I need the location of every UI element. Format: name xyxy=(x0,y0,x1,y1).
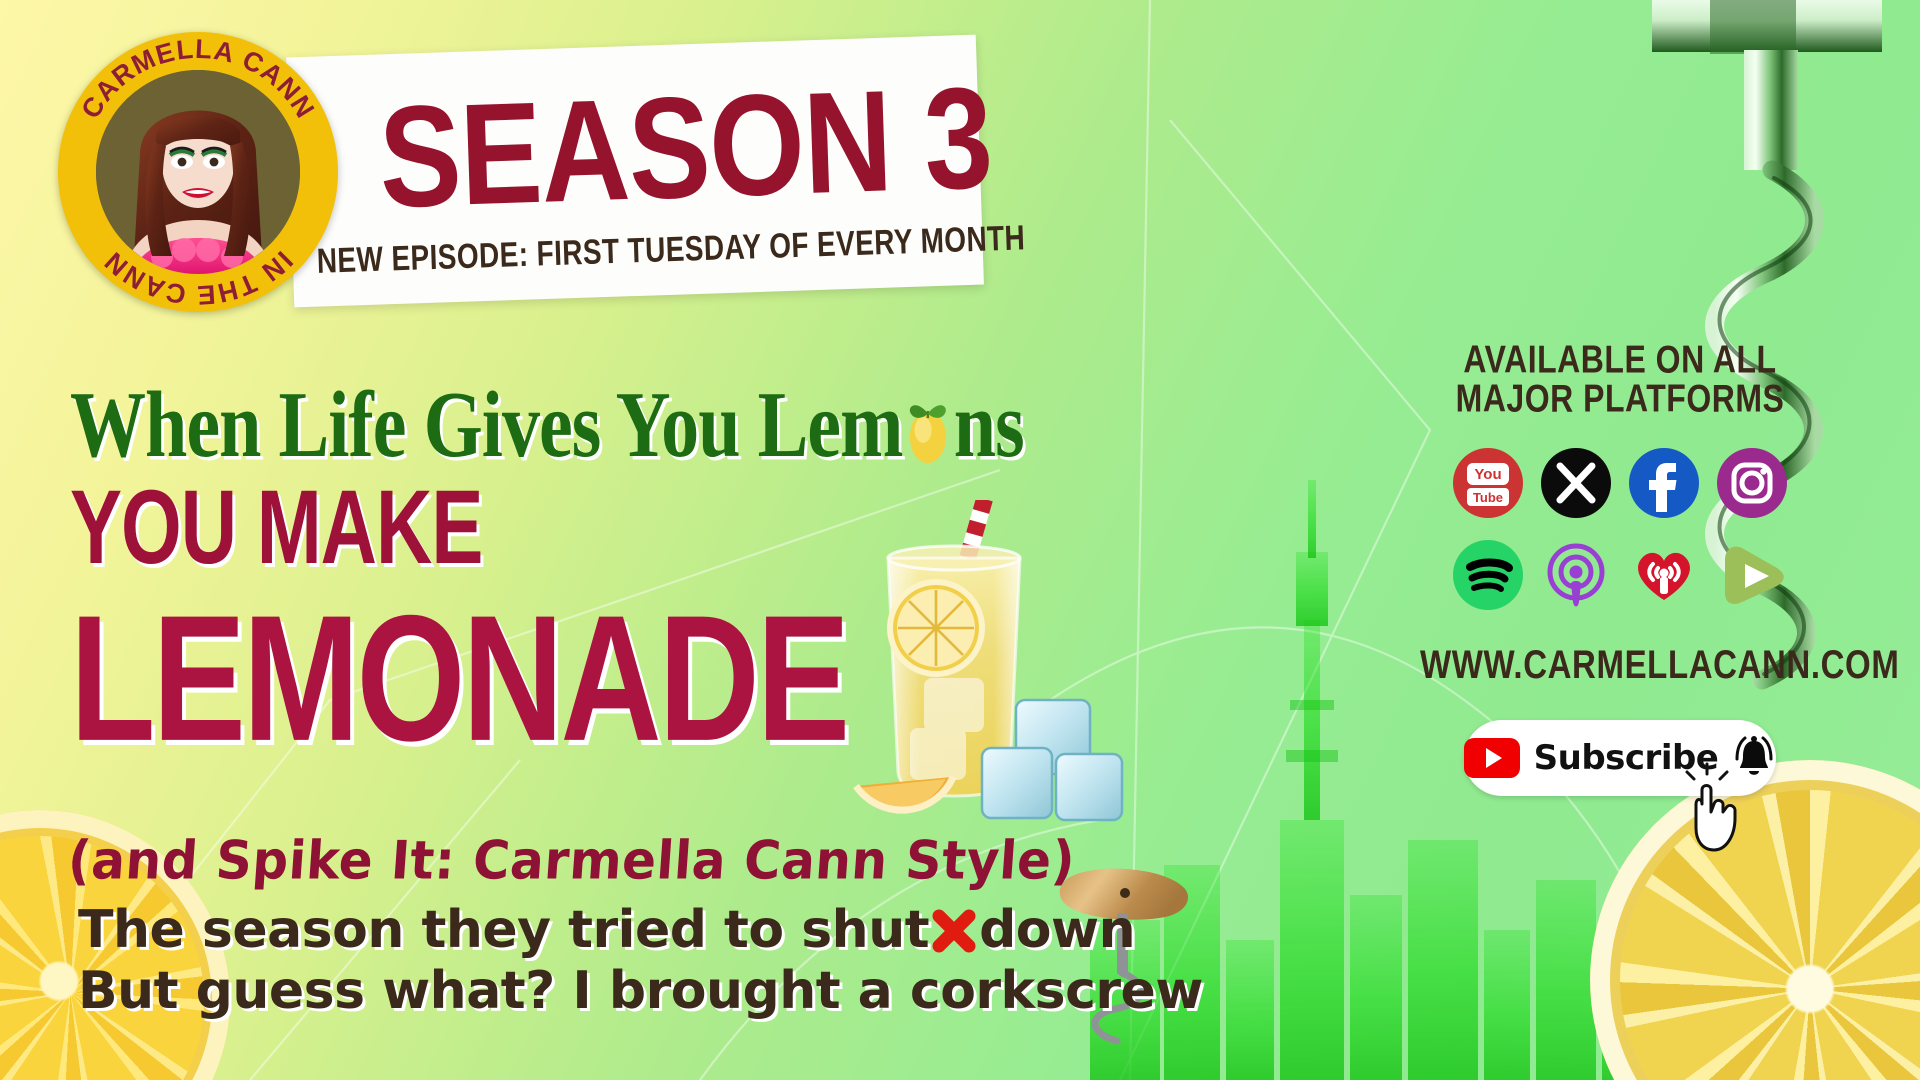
tagline-block: The season they tried to shut down But g… xyxy=(78,900,1203,1022)
tagline-line-1: The season they tried to shut down xyxy=(78,900,1203,961)
carmella-cann-logo-badge[interactable]: CARMELLA CANN IN THE CANN xyxy=(58,32,338,312)
lemon-icon xyxy=(903,387,952,458)
click-cursor-icon xyxy=(1678,760,1750,856)
svg-text:You: You xyxy=(1474,466,1501,483)
headline-line-1-after: ns xyxy=(954,378,1024,472)
tagline-line-1-before: The season they tried to shut xyxy=(78,900,929,961)
right-rail: AVAILABLE ON ALL MAJOR PLATFORMS You Tub… xyxy=(1420,336,1820,796)
x-twitter-icon[interactable] xyxy=(1541,448,1611,518)
social-icon-grid: You Tube xyxy=(1420,448,1820,610)
facebook-icon[interactable] xyxy=(1629,448,1699,518)
avatar xyxy=(96,70,300,274)
subscribe-button[interactable]: Subscribe xyxy=(1464,720,1776,796)
carmella-cann-portrait-icon xyxy=(96,70,300,274)
red-x-icon xyxy=(931,907,977,953)
instagram-icon[interactable] xyxy=(1717,448,1787,518)
headline-line-1-before: When Life Gives You Lem xyxy=(70,378,902,472)
tagline-line-2: But guess what? I brought a corkscrew xyxy=(78,961,1203,1022)
headline-line-2: YOU MAKE xyxy=(70,474,1150,579)
headline-line-4-script: (and Spike It: Carmella Cann Style) xyxy=(66,834,1150,887)
youtube-play-icon xyxy=(1464,738,1520,778)
headline-line-1: When Life Gives You Lem ns xyxy=(70,378,1096,472)
google-podcasts-icon[interactable] xyxy=(1717,540,1787,610)
promo-poster: CARMELLA CANN IN THE CANN xyxy=(0,0,1920,1080)
season-title: SEASON 3 xyxy=(377,72,993,225)
lemon-slice-bottom-right-icon xyxy=(1590,760,1920,1080)
svg-text:Tube: Tube xyxy=(1473,490,1503,505)
iheartradio-icon[interactable] xyxy=(1629,540,1699,610)
website-url[interactable]: WWW.CARMELLACANN.COM xyxy=(1420,642,1820,688)
headline-block: When Life Gives You Lem ns YOU MAKE LEMO… xyxy=(70,378,1150,884)
headline-line-3: LEMONADE xyxy=(70,594,1150,762)
availability-line-2: MAJOR PLATFORMS xyxy=(1420,375,1820,423)
tagline-line-1-after: down xyxy=(979,900,1135,961)
spotify-icon[interactable] xyxy=(1453,540,1523,610)
apple-podcasts-icon[interactable] xyxy=(1541,540,1611,610)
season-banner: SEASON 3 NEW EPISODE: FIRST TUESDAY OF E… xyxy=(286,35,984,308)
youtube-icon[interactable]: You Tube xyxy=(1453,448,1523,518)
